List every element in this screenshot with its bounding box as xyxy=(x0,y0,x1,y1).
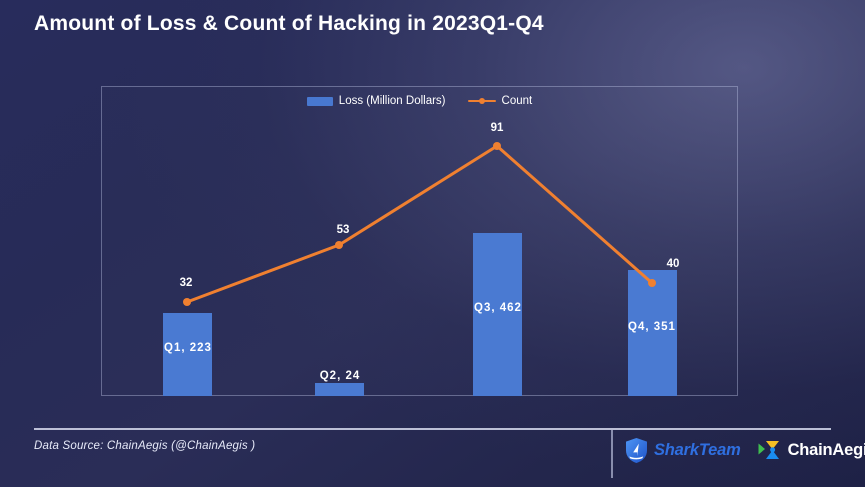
count-label-q3: 91 xyxy=(471,122,523,134)
sharkteam-logo-text: SharkTeam xyxy=(654,441,741,460)
footer-divider-horizontal xyxy=(34,428,831,430)
bar-swatch-icon xyxy=(307,97,333,106)
bar-label-q2: Q2, 24 xyxy=(295,370,385,382)
bar-label-q4: Q4, 351 xyxy=(607,321,697,333)
footer-divider-vertical xyxy=(611,430,613,478)
bar-label-q3: Q3, 462 xyxy=(453,302,543,314)
hourglass-icon xyxy=(757,437,783,464)
count-label-q1: 32 xyxy=(160,277,212,289)
bar-q4[interactable] xyxy=(628,270,677,396)
page-title: Amount of Loss & Count of Hacking in 202… xyxy=(34,12,544,36)
count-label-q4: 40 xyxy=(647,258,699,270)
legend-label-loss: Loss (Million Dollars) xyxy=(339,95,446,107)
legend-label-count: Count xyxy=(502,95,533,107)
data-source-text: Data Source: ChainAegis (@ChainAegis ) xyxy=(34,440,255,452)
bar-label-q1: Q1, 223 xyxy=(143,342,233,354)
chainaegis-logo-text: ChainAegis xyxy=(788,441,865,460)
legend-item-loss[interactable]: Loss (Million Dollars) xyxy=(307,95,446,107)
bar-q2[interactable] xyxy=(315,383,364,396)
shield-icon xyxy=(624,437,649,464)
line-swatch-icon xyxy=(468,97,496,106)
bar-q1[interactable] xyxy=(163,313,212,396)
count-label-q2: 53 xyxy=(317,224,369,236)
legend-item-count[interactable]: Count xyxy=(468,95,533,107)
chainaegis-logo[interactable]: ChainAegis xyxy=(757,437,865,464)
logo-group: SharkTeam ChainAegis xyxy=(624,437,865,464)
chart-slide: Amount of Loss & Count of Hacking in 202… xyxy=(0,0,865,487)
sharkteam-logo[interactable]: SharkTeam xyxy=(624,437,741,464)
bar-q3[interactable] xyxy=(473,233,522,396)
